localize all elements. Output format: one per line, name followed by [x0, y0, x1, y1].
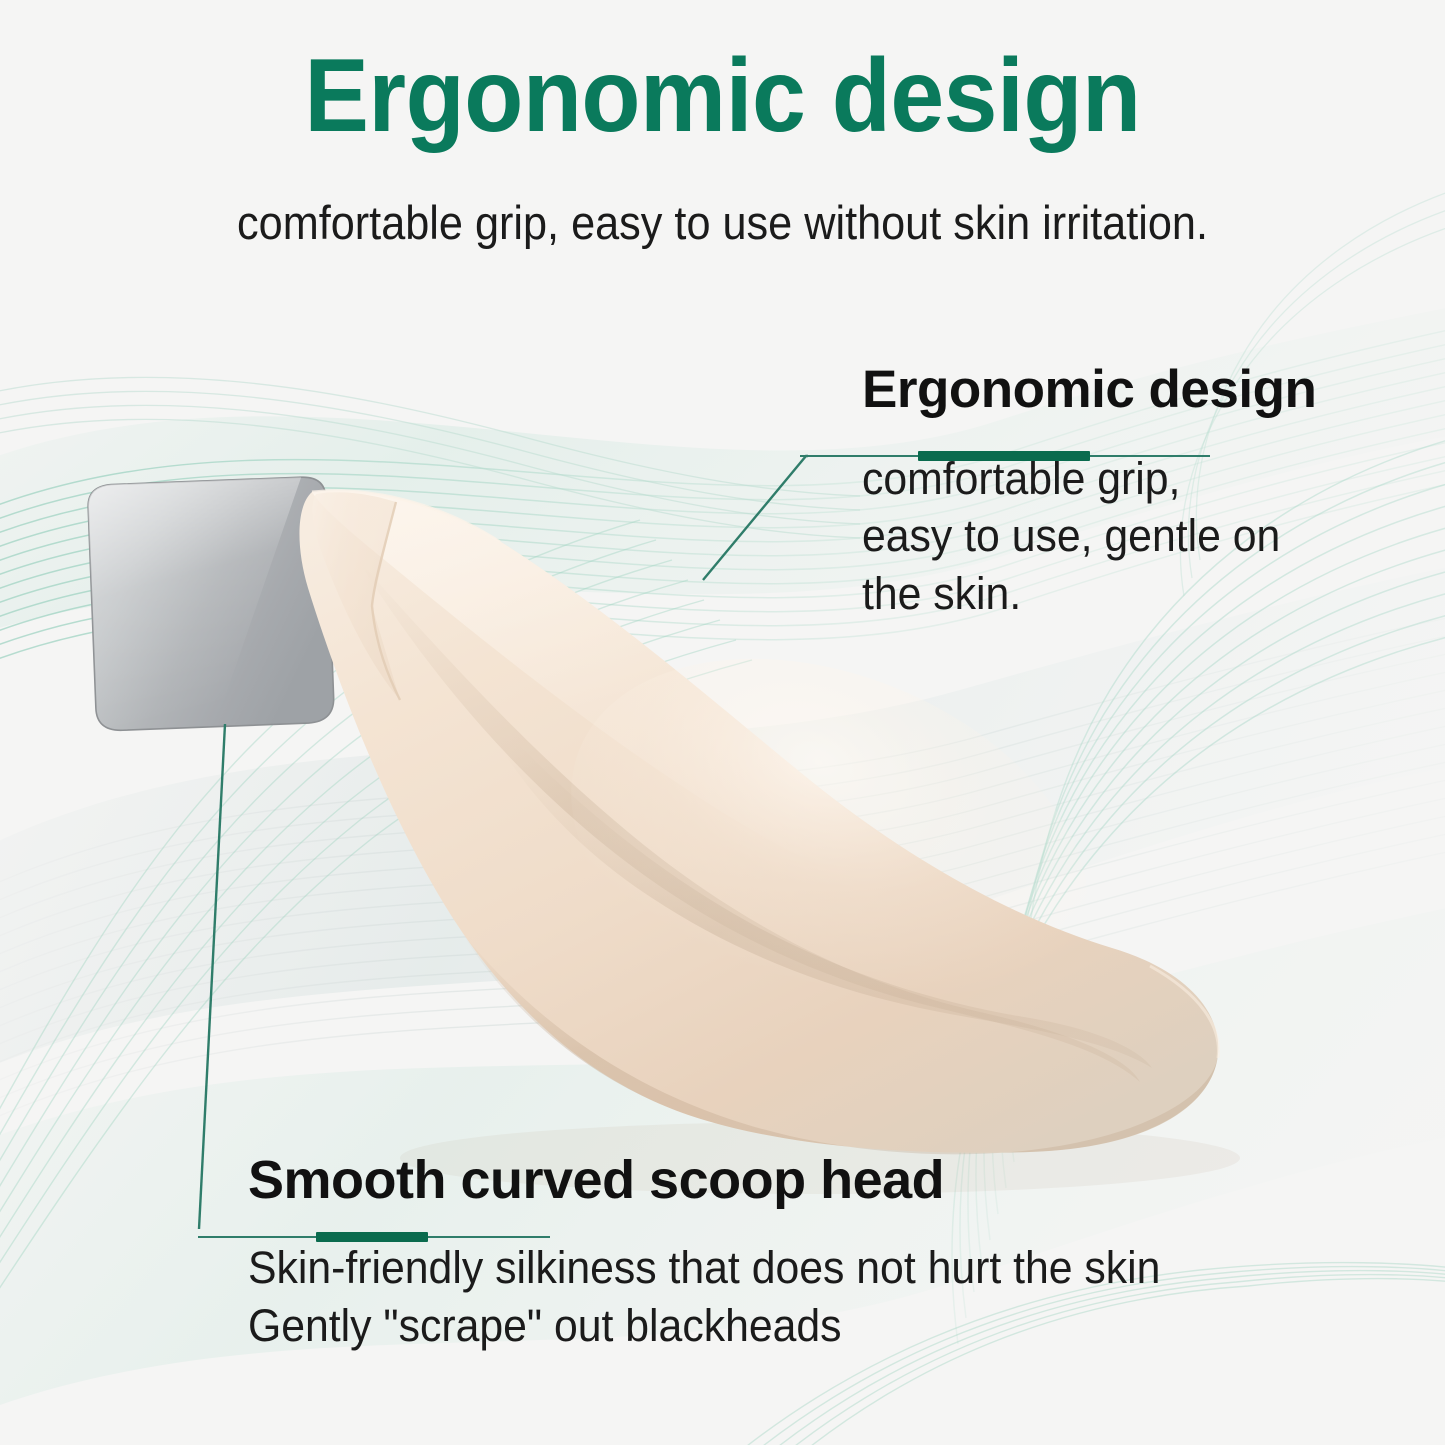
callout-scoop-line-1: Skin-friendly silkiness that does not hu…	[248, 1239, 1255, 1298]
callout-scoop-title: Smooth curved scoop head	[248, 1152, 1308, 1209]
page-subtitle: comfortable grip, easy to use without sk…	[58, 196, 1387, 250]
callout-ergonomic: Ergonomic design comfortable grip, easy …	[862, 362, 1422, 622]
callout-ergonomic-title: Ergonomic design	[862, 362, 1422, 418]
product-feature-banner: Ergonomic design comfortable grip, easy …	[0, 0, 1445, 1445]
page-title: Ergonomic design	[51, 42, 1395, 151]
leader-line-scoop	[199, 724, 225, 1229]
callout-ergonomic-line-1: comfortable grip,	[862, 450, 1394, 508]
callout-scoop-line-2: Gently "scrape" out blackheads	[248, 1297, 1255, 1356]
callout-ergonomic-line-2: easy to use, gentle on	[862, 507, 1394, 565]
leader-line-ergonomic	[703, 456, 808, 580]
metal-scoop-blade	[87, 476, 334, 731]
callout-ergonomic-line-3: the skin.	[862, 565, 1394, 623]
callout-scoop-body: Skin-friendly silkiness that does not hu…	[248, 1239, 1255, 1356]
callout-scoop: Smooth curved scoop head Skin-friendly s…	[248, 1152, 1308, 1356]
callout-ergonomic-body: comfortable grip, easy to use, gentle on…	[862, 450, 1394, 623]
